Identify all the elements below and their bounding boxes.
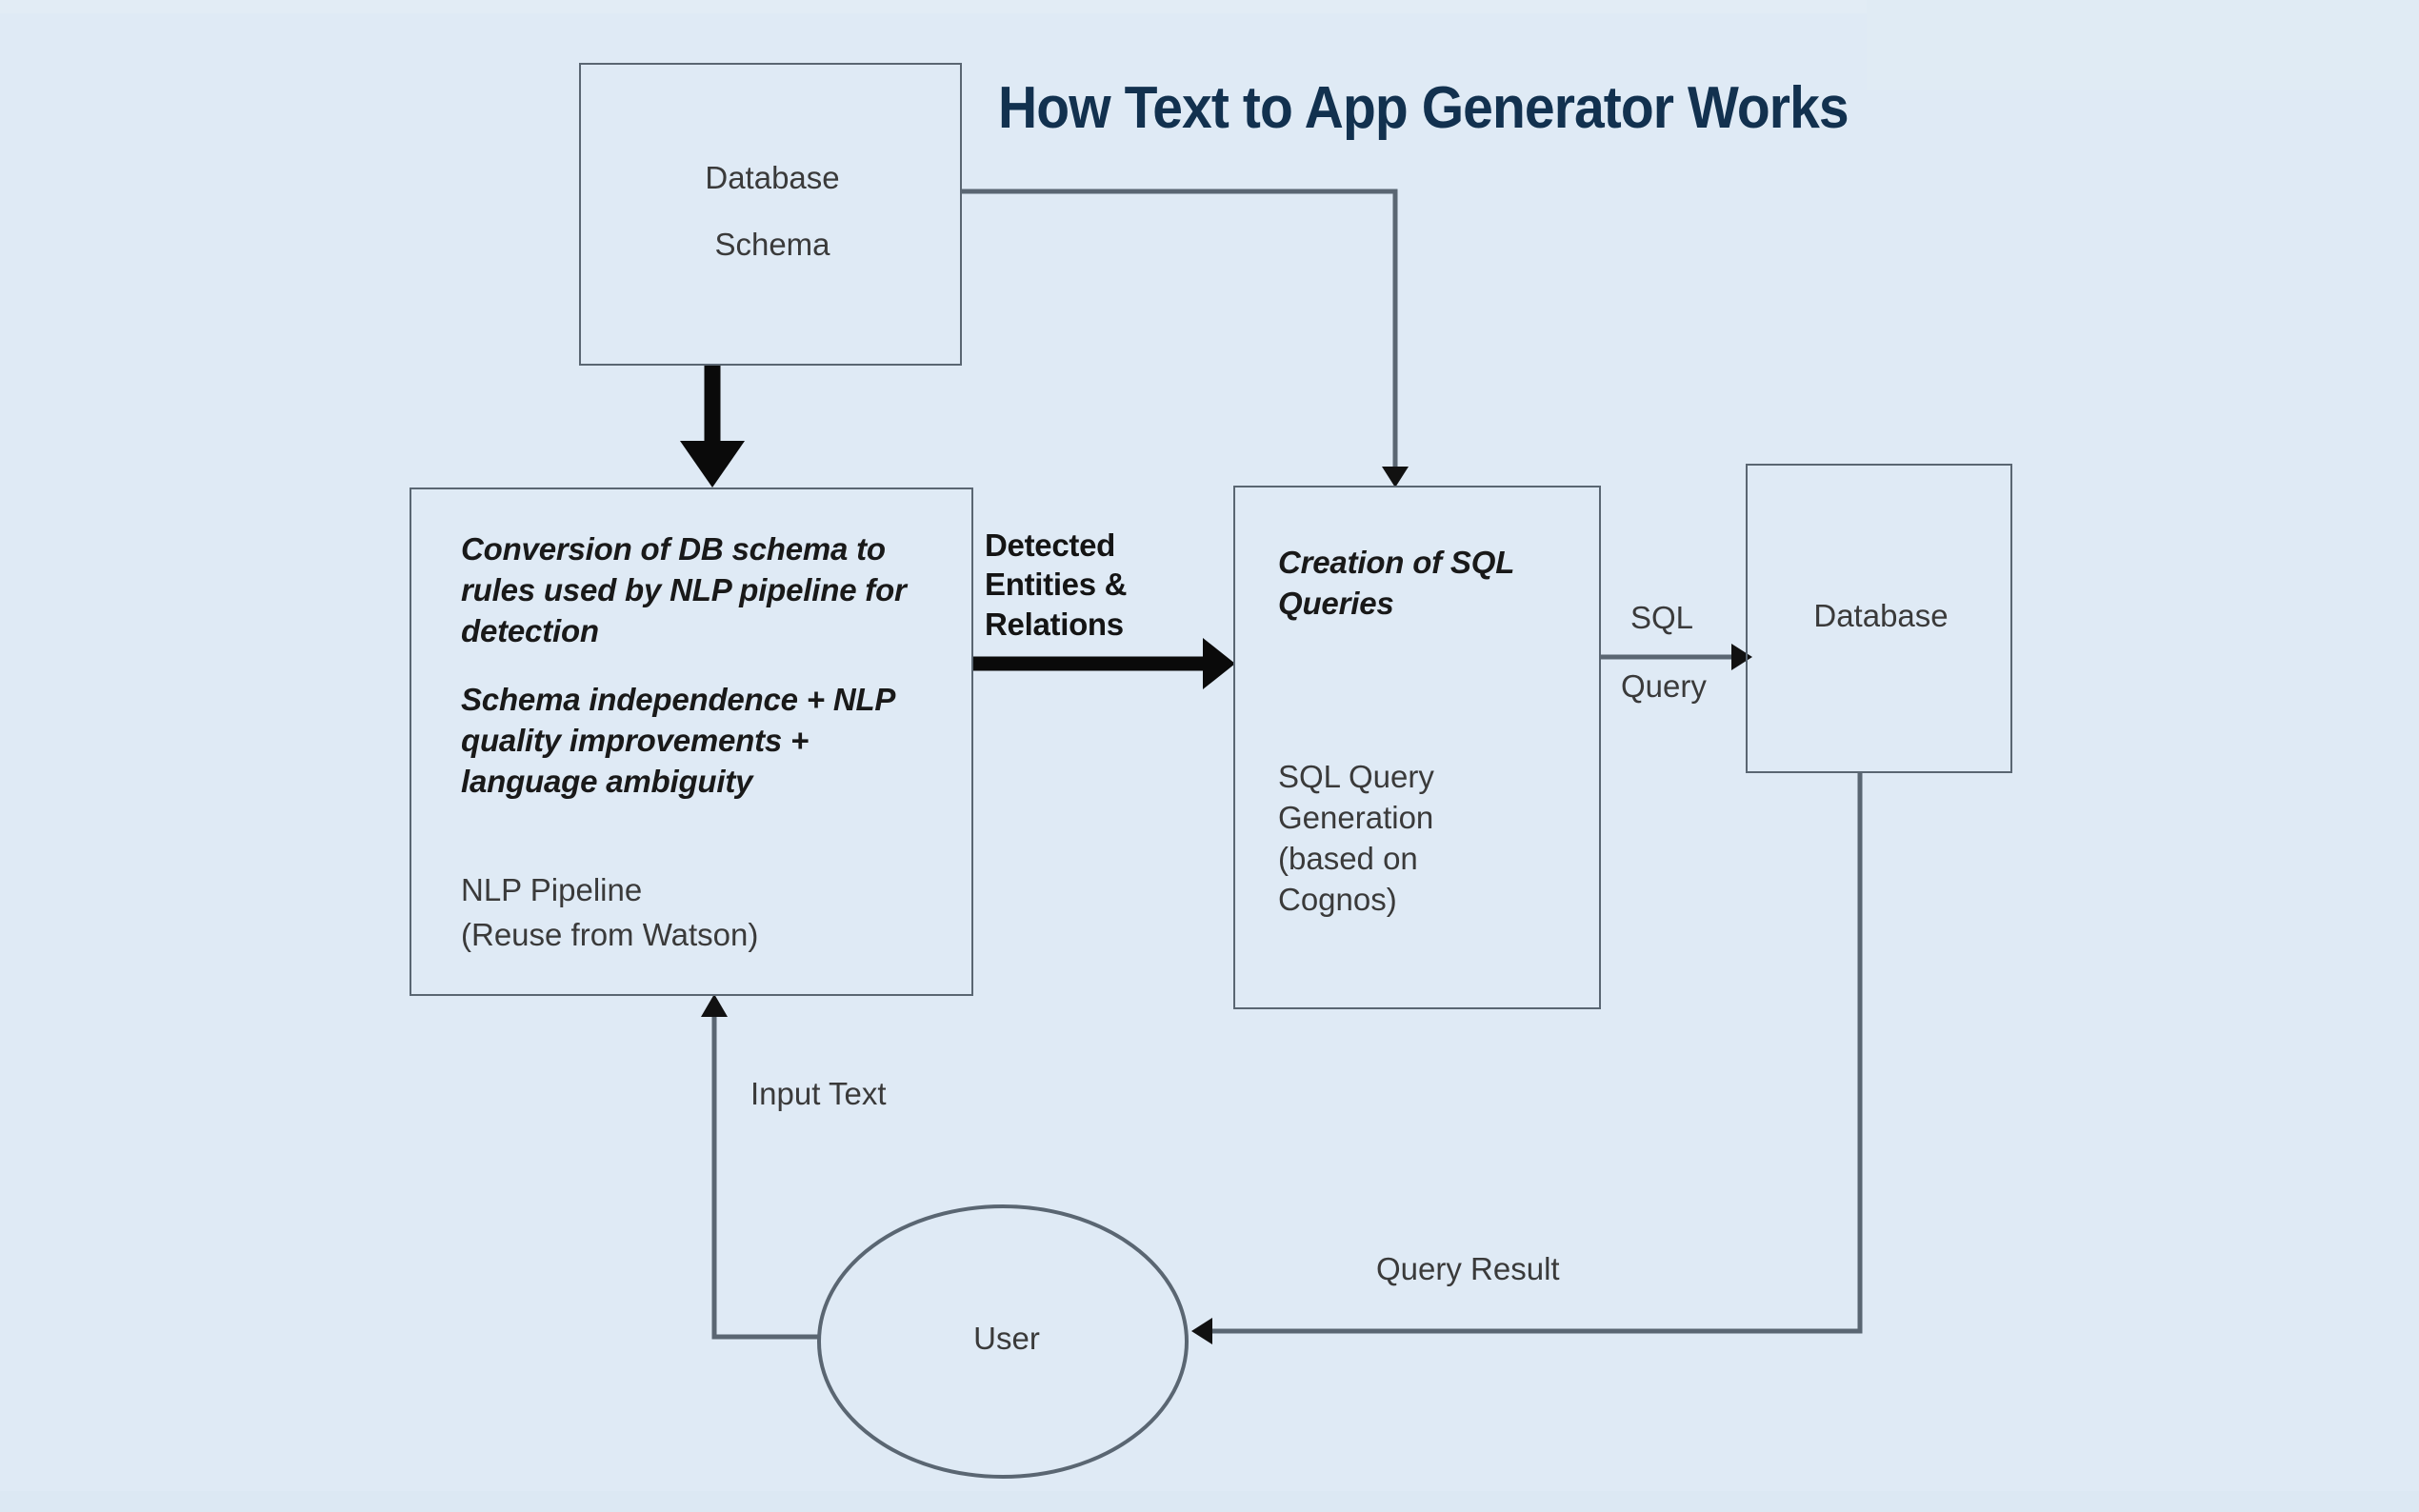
edge-label-detected-entities: Detected Entities & Relations	[985, 526, 1204, 644]
diagram-canvas: How Text to App Generator Works	[0, 0, 2419, 1512]
database-label: Database	[1748, 596, 2014, 637]
edge-user-to-nlp	[701, 994, 819, 1337]
database-schema-label-line1: Database	[581, 158, 964, 199]
edge-label-query-result: Query Result	[1376, 1249, 1681, 1288]
database-schema-label-line2: Schema	[581, 225, 964, 266]
edge-schema-to-nlp	[680, 364, 745, 487]
nlp-conversion-body-line2: (Reuse from Watson)	[461, 915, 956, 956]
bottom-tone-band	[0, 1491, 2419, 1512]
page-title: How Text to App Generator Works	[998, 74, 1849, 142]
nlp-conversion-heading-2: Schema independence + NLP quality improv…	[461, 680, 928, 803]
edge-nlp-to-sql	[973, 638, 1235, 689]
user-label: User	[916, 1319, 1097, 1360]
nlp-conversion-heading-1: Conversion of DB schema to rules used by…	[461, 529, 947, 652]
node-nlp-conversion[interactable]: Conversion of DB schema to rules used by…	[410, 487, 973, 996]
edge-label-sql-query-line2: Query	[1621, 666, 1792, 706]
edge-label-input-text: Input Text	[750, 1074, 998, 1113]
connector-layer	[0, 0, 2419, 1512]
node-sql-creation[interactable]: Creation of SQL Queries SQL Query Genera…	[1233, 486, 1601, 1009]
nlp-conversion-body-line1: NLP Pipeline	[461, 870, 956, 911]
sql-creation-heading: Creation of SQL Queries	[1278, 543, 1573, 625]
edge-schema-to-sql	[962, 191, 1409, 487]
edge-label-sql-query-line1: SQL	[1630, 598, 1783, 637]
top-right-tone-band	[1867, 0, 2419, 90]
node-database-schema[interactable]: Database Schema	[579, 63, 962, 366]
sql-creation-body: SQL Query Generation (based on Cognos)	[1278, 757, 1526, 921]
node-database[interactable]: Database	[1746, 464, 2012, 773]
